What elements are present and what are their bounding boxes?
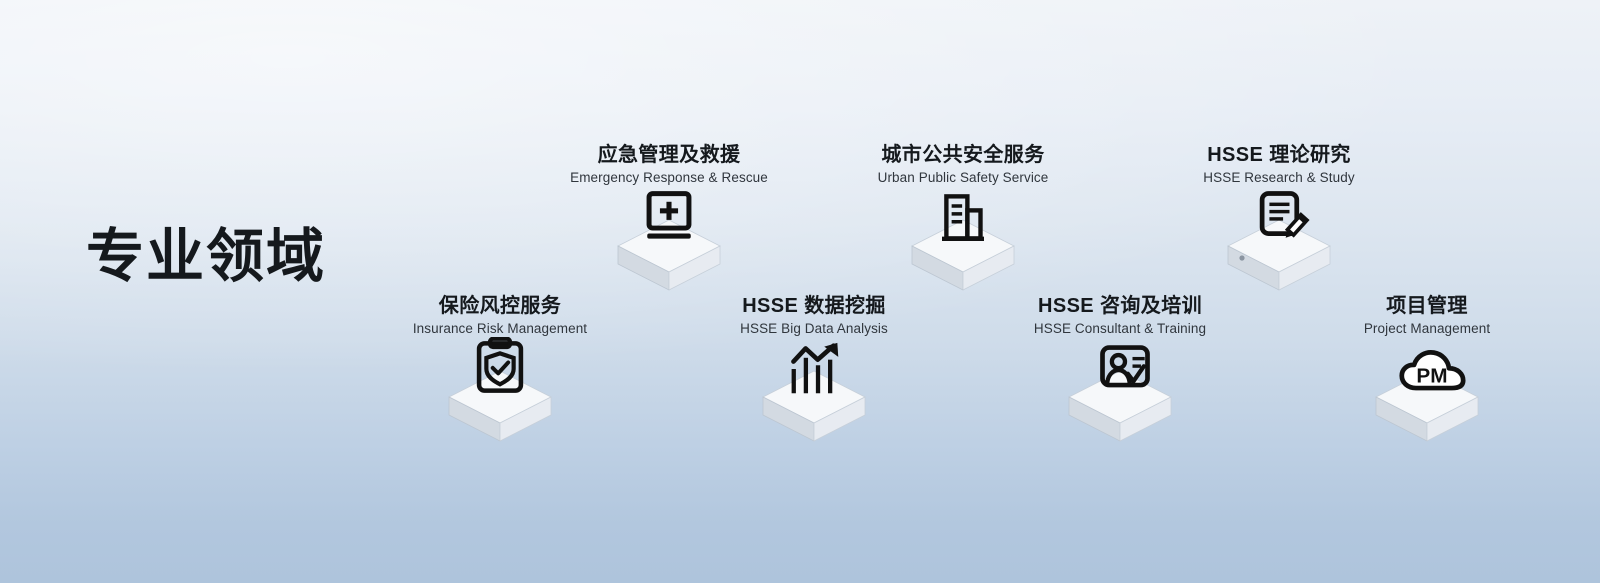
field-title-en-research: HSSE Research & Study — [1159, 168, 1399, 188]
field-item-urban[interactable]: 城市公共安全服务 Urban Public Safety Service — [843, 143, 1083, 302]
field-title-cn-research: HSSE 理论研究 — [1159, 143, 1399, 168]
bar-chart-trend-arrow-icon — [785, 341, 843, 397]
field-icon-research — [1159, 192, 1399, 302]
field-title-cn-project: 项目管理 — [1307, 294, 1547, 319]
field-labels-project: 项目管理 Project Management — [1307, 294, 1547, 339]
city-buildings-icon — [935, 192, 991, 248]
cloud-badge-text: PM — [1416, 365, 1447, 388]
field-icon-emergency — [549, 192, 789, 302]
clipboard-shield-check-icon — [472, 337, 528, 397]
document-pencil-icon — [1253, 188, 1315, 250]
page-title: 专业领域 — [86, 228, 326, 286]
field-icon-consultant — [1000, 343, 1240, 453]
field-title-en-consultant: HSSE Consultant & Training — [1000, 319, 1240, 339]
cloud-pm-icon: PM — [1398, 347, 1466, 397]
field-title-en-bigdata: HSSE Big Data Analysis — [694, 319, 934, 339]
field-labels-emergency: 应急管理及救援 Emergency Response & Rescue — [549, 143, 789, 188]
field-item-consultant[interactable]: HSSE 咨询及培训 HSSE Consultant & Training — [1000, 294, 1240, 453]
field-item-insurance[interactable]: 保险风控服务 Insurance Risk Management — [380, 294, 620, 453]
person-card-check-icon — [1095, 343, 1155, 399]
field-item-research[interactable]: HSSE 理论研究 HSSE Research & Study — [1159, 143, 1399, 302]
field-title-cn-insurance: 保险风控服务 — [380, 294, 620, 319]
field-title-cn-bigdata: HSSE 数据挖掘 — [694, 294, 934, 319]
field-icon-insurance — [380, 343, 620, 453]
field-title-en-insurance: Insurance Risk Management — [380, 319, 620, 339]
field-icon-project: PM — [1307, 343, 1547, 453]
field-title-en-emergency: Emergency Response & Rescue — [549, 168, 789, 188]
field-labels-bigdata: HSSE 数据挖掘 HSSE Big Data Analysis — [694, 294, 934, 339]
field-icon-bigdata — [694, 343, 934, 453]
field-item-emergency[interactable]: 应急管理及救援 Emergency Response & Rescue — [549, 143, 789, 302]
field-labels-consultant: HSSE 咨询及培训 HSSE Consultant & Training — [1000, 294, 1240, 339]
field-title-cn-consultant: HSSE 咨询及培训 — [1000, 294, 1240, 319]
first-aid-monitor-icon — [640, 190, 698, 248]
field-title-en-project: Project Management — [1307, 319, 1547, 339]
field-title-en-urban: Urban Public Safety Service — [843, 168, 1083, 188]
field-labels-research: HSSE 理论研究 HSSE Research & Study — [1159, 143, 1399, 188]
field-title-cn-urban: 城市公共安全服务 — [843, 143, 1083, 168]
field-title-cn-emergency: 应急管理及救援 — [549, 143, 789, 168]
field-icon-urban — [843, 192, 1083, 302]
professional-fields-diagram: 专业领域 应急管理及救援 Emergency Response & Rescue — [0, 0, 1600, 583]
field-item-project[interactable]: 项目管理 Project Management PM — [1307, 294, 1547, 453]
field-labels-insurance: 保险风控服务 Insurance Risk Management — [380, 294, 620, 339]
field-labels-urban: 城市公共安全服务 Urban Public Safety Service — [843, 143, 1083, 188]
field-item-bigdata[interactable]: HSSE 数据挖掘 HSSE Big Data Analysis — [694, 294, 934, 453]
